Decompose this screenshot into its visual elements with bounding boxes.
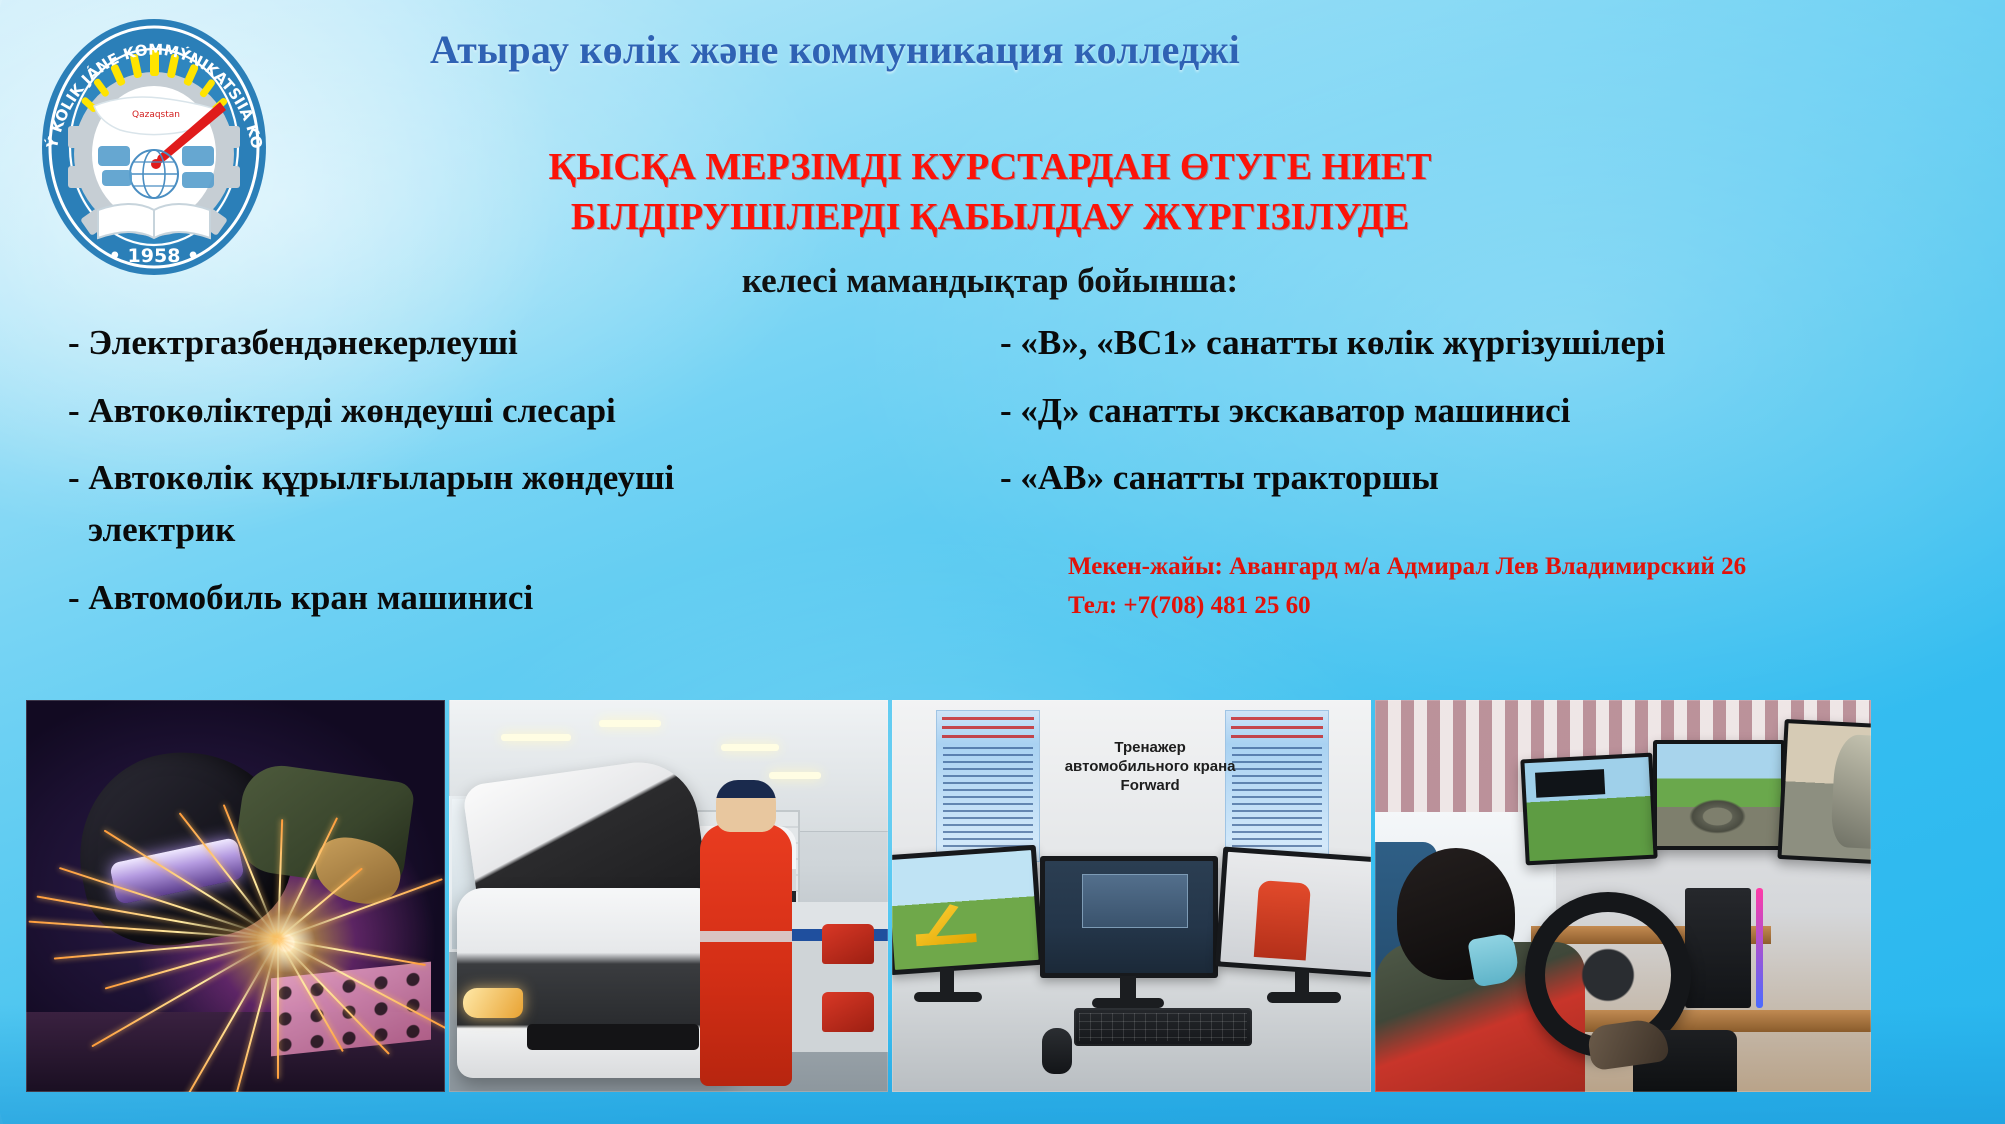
crane-simulator-photo: Тренажер автомобильного крана Forward	[892, 700, 1371, 1092]
contact-block: Мекен-жайы: Авангард м/а Адмирал Лев Вла…	[1068, 548, 1948, 626]
photo-border	[449, 700, 888, 1092]
professions-right-column: - «В», «ВС1» санатты көлік жүргізушілері…	[1000, 318, 1930, 521]
profession-item-text: - Автокөлік құрылғыларын жөндеуші	[68, 458, 674, 497]
logo-map-label: Qazaqstan	[132, 110, 180, 120]
contact-phone: Тел: +7(708) 481 25 60	[1068, 587, 1948, 626]
driving-simulator-photo	[1375, 700, 1871, 1092]
photo-strip: Тренажер автомобильного крана Forward	[26, 700, 1871, 1092]
profession-item: - Автокөлік құрылғыларын жөндеуші электр…	[68, 453, 968, 554]
logo-year: • 1958 •	[109, 245, 199, 267]
photo-border	[892, 700, 1371, 1092]
poster-root: Qazaqstan ATYRAÝ KÓLIK JÁNE KOMMÝNIKATSI…	[0, 0, 2005, 1124]
profession-item-continuation: электрик	[68, 505, 968, 555]
college-logo: Qazaqstan ATYRAÝ KÓLIK JÁNE KOMMÝNIKATSI…	[32, 14, 277, 276]
profession-item: - Автомобиль кран машинисі	[68, 573, 968, 623]
headline: ҚЫСҚА МЕРЗІМДІ КУРСТАРДАН ӨТУГЕ НИЕТ БІЛ…	[330, 142, 1650, 242]
subheadline: келесі мамандықтар бойынша:	[330, 260, 1650, 302]
photo-border	[1375, 700, 1871, 1092]
contact-address: Мекен-жайы: Авангард м/а Адмирал Лев Вла…	[1068, 548, 1948, 587]
profession-item: - «АВ» санатты тракторшы	[1000, 453, 1930, 503]
headline-line-1: ҚЫСҚА МЕРЗІМДІ КУРСТАРДАН ӨТУГЕ НИЕТ	[330, 142, 1650, 192]
professions-left-column: - Электргазбендәнекерлеуші - Автокөлікте…	[68, 318, 968, 640]
car-repair-photo	[449, 700, 888, 1092]
photo-border	[26, 700, 445, 1092]
profession-item: - Электргазбендәнекерлеуші	[68, 318, 968, 368]
college-title: Атырау көлік және коммуникация колледжі	[430, 28, 1500, 72]
welding-photo	[26, 700, 445, 1092]
profession-item: - «В», «ВС1» санатты көлік жүргізушілері	[1000, 318, 1930, 368]
profession-item: - Автокөліктерді жөндеуші слесарі	[68, 386, 968, 436]
profession-item: - «Д» санатты экскаватор машинисі	[1000, 386, 1930, 436]
headline-line-2: БІЛДІРУШІЛЕРДІ ҚАБЫЛДАУ ЖҮРГІЗІЛУДЕ	[330, 192, 1650, 242]
